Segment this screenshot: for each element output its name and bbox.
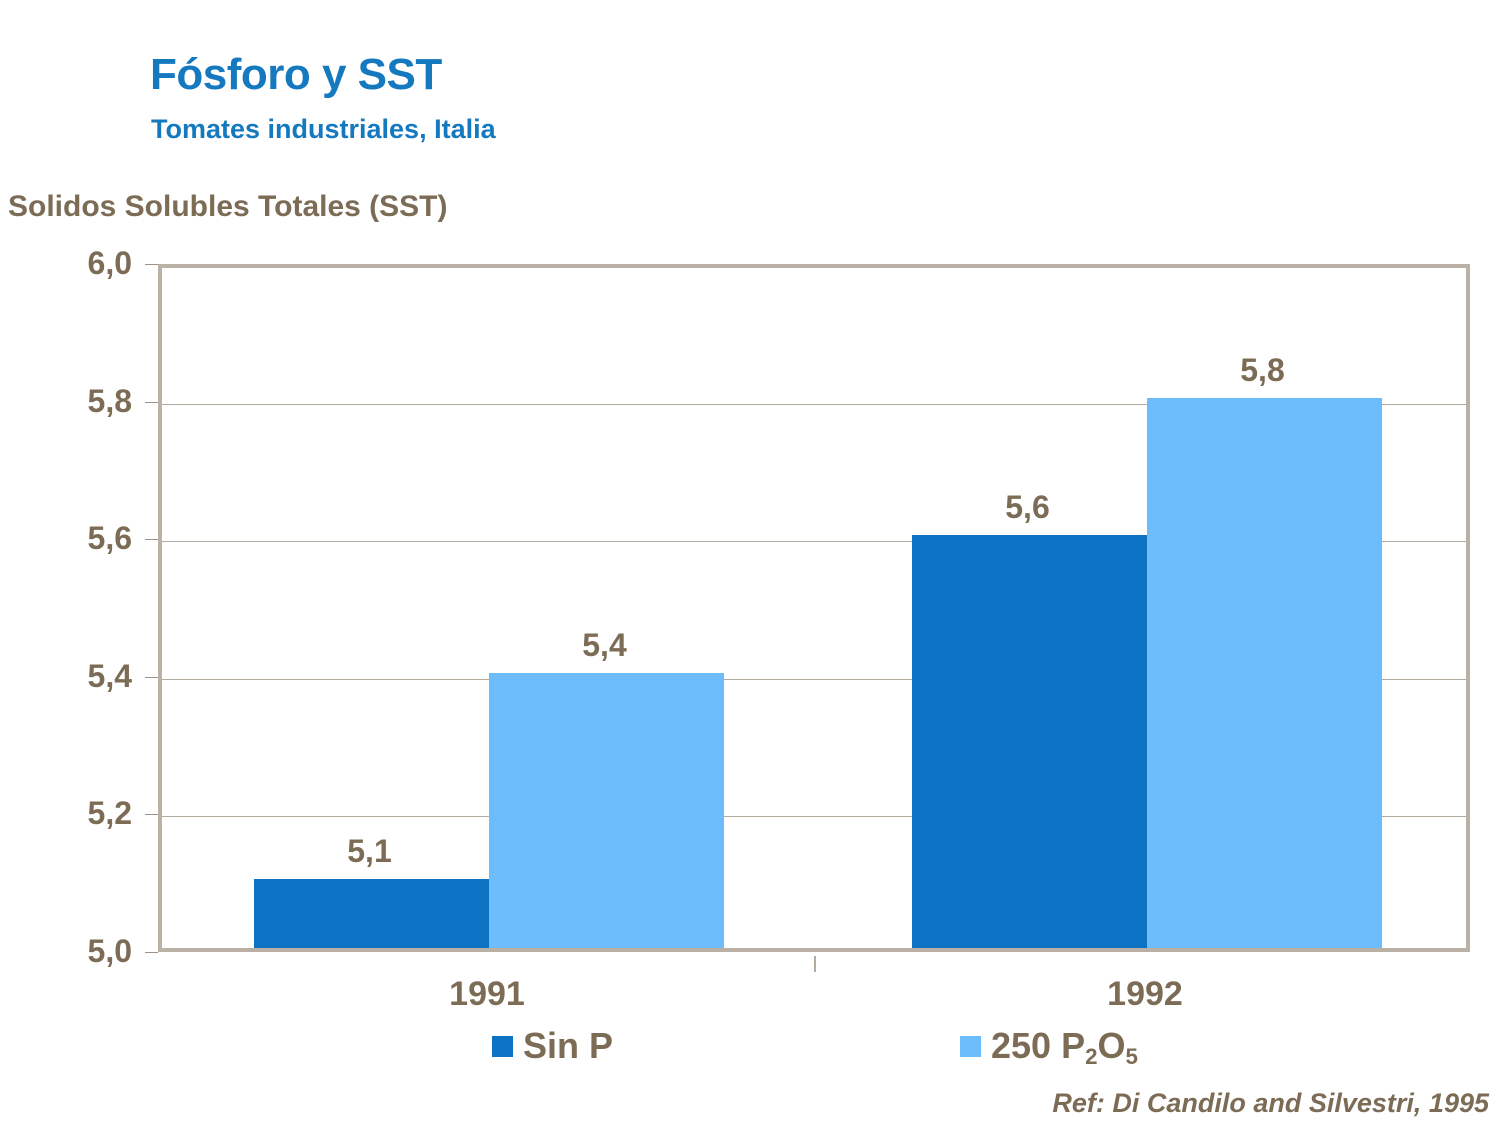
y-axis-tick-label: 5,2: [12, 797, 132, 829]
bar-1992-series-0[interactable]: [912, 535, 1147, 948]
x-axis-tick-label-1992: 1992: [910, 975, 1380, 1014]
y-axis-tick-label: 5,0: [12, 935, 132, 967]
y-axis-tick-label: 6,0: [12, 247, 132, 279]
category-separator-tick: [814, 956, 816, 972]
legend-swatch-icon: [960, 1036, 981, 1057]
chart-subtitle: Tomates industriales, Italia: [151, 114, 496, 145]
legend-entry-0[interactable]: Sin P: [492, 1028, 613, 1064]
page-title: Fósforo y SST: [150, 50, 442, 100]
bar-1991-series-0[interactable]: [254, 879, 489, 948]
legend-entry-1[interactable]: 250 P2O5: [960, 1028, 1138, 1064]
y-axis-tick-label: 5,4: [12, 660, 132, 692]
y-axis-tick: [145, 539, 158, 540]
bar-1992-series-1[interactable]: [1147, 398, 1382, 948]
chart-legend: Sin P250 P2O5: [0, 1028, 1501, 1078]
bar-value-label: 5,4: [477, 629, 732, 661]
x-axis-tick-label-1991: 1991: [252, 975, 722, 1014]
legend-swatch-icon: [492, 1036, 513, 1057]
y-axis-tick: [145, 952, 158, 953]
y-axis-title: Solidos Solubles Totales (SST): [8, 190, 448, 224]
bar-value-label: 5,8: [1135, 354, 1390, 386]
legend-label: 250 P2O5: [991, 1028, 1138, 1064]
y-axis-tick: [145, 264, 158, 265]
y-axis-tick-label: 5,6: [12, 522, 132, 554]
y-axis-tick: [145, 677, 158, 678]
bar-1991-series-1[interactable]: [489, 673, 724, 948]
y-axis-tick-label: 5,8: [12, 385, 132, 417]
reference-note: Ref: Di Candilo and Silvestri, 1995: [1052, 1088, 1489, 1119]
y-axis-tick: [145, 814, 158, 815]
y-axis-tick: [145, 402, 158, 403]
bar-value-label: 5,6: [900, 491, 1155, 523]
bar-value-label: 5,1: [242, 835, 497, 867]
legend-label: Sin P: [523, 1028, 613, 1064]
